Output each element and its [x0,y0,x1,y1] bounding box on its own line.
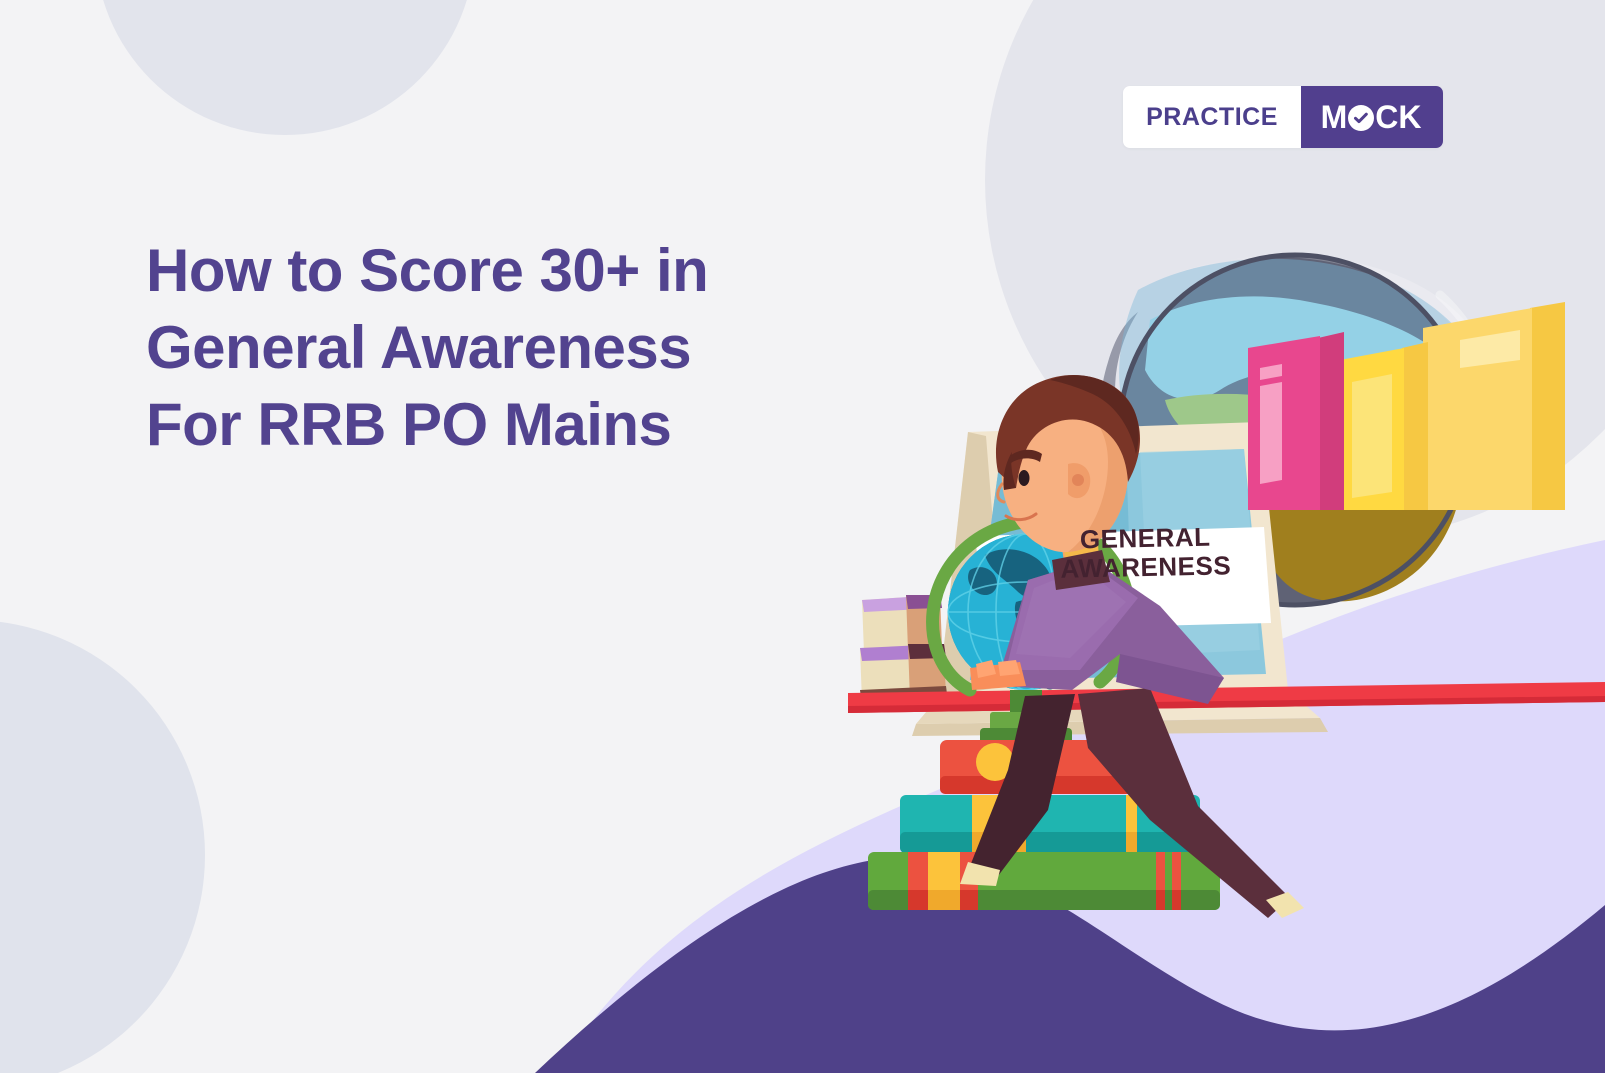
title-line-1: How to Score 30+ in [146,233,906,310]
illustration [820,250,1605,930]
page-title: How to Score 30+ in General Awareness Fo… [146,233,906,463]
logo-letters-ck: CK [1375,101,1421,133]
title-line-3: For RRB PO Mains [146,387,906,464]
logo-word-mock: M CK [1301,86,1443,148]
logo-word-practice: PRACTICE [1123,86,1301,148]
poster-canvas: PRACTICE M CK How to Score 30+ in Genera… [0,0,1605,1073]
laptop-screen-text: GENERAL AWARENESS [1022,521,1268,584]
logo-letter-m: M [1321,101,1348,133]
screen-text-line-2: AWARENESS [1023,551,1269,585]
practicemock-logo[interactable]: PRACTICE M CK [1123,86,1443,148]
check-icon [1348,105,1374,131]
title-line-2: General Awareness [146,310,906,387]
